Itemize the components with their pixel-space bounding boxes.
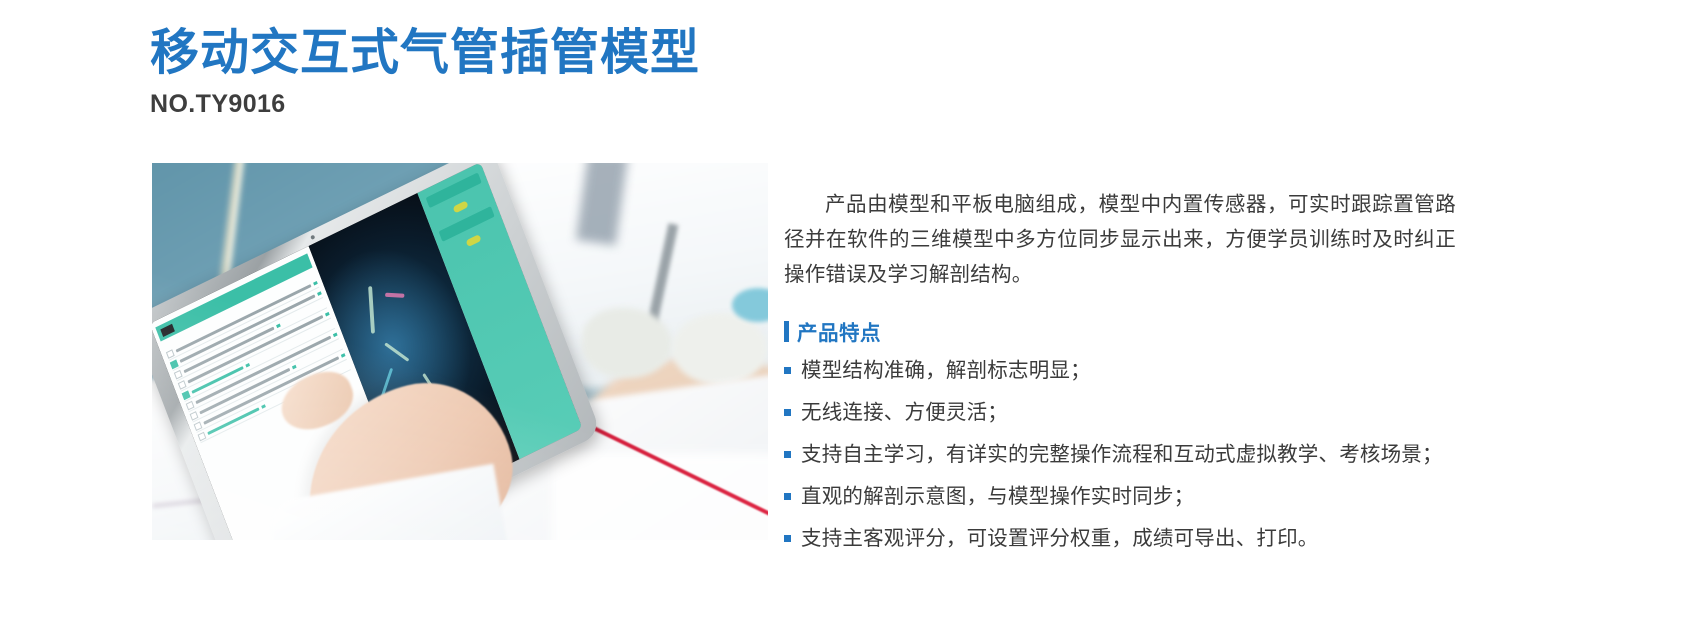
- content-column: 产品由模型和平板电脑组成，模型中内置传感器，可实时跟踪置管路径并在软件的三维模型…: [784, 166, 1456, 555]
- feature-label: 支持主客观评分，可设置评分权重，成绩可导出、打印。: [801, 522, 1319, 556]
- product-description: 产品由模型和平板电脑组成，模型中内置传感器，可实时跟踪置管路径并在软件的三维模型…: [784, 187, 1456, 293]
- feature-label: 支持自主学习，有详实的完整操作流程和互动式虚拟教学、考核场景；: [801, 438, 1443, 472]
- feature-label: 模型结构准确，解剖标志明显；: [801, 354, 1091, 388]
- bullet-square-icon: [784, 409, 791, 416]
- heading-accent-bar: [784, 321, 789, 342]
- features-heading: 产品特点: [784, 316, 1456, 346]
- list-item: 无线连接、方便灵活；: [784, 396, 1456, 430]
- list-item: 支持主客观评分，可设置评分权重，成绩可导出、打印。: [784, 522, 1456, 556]
- bullet-square-icon: [784, 367, 791, 374]
- bullet-square-icon: [784, 451, 791, 458]
- page-title: 移动交互式气管插管模型: [150, 26, 700, 81]
- bullet-square-icon: [784, 493, 791, 500]
- product-photo: [152, 163, 768, 540]
- list-item: 支持自主学习，有详实的完整操作流程和互动式虚拟教学、考核场景；: [784, 438, 1456, 472]
- feature-label: 直观的解剖示意图，与模型操作实时同步；: [801, 480, 1194, 514]
- list-item: 模型结构准确，解剖标志明显；: [784, 354, 1456, 388]
- list-item: 直观的解剖示意图，与模型操作实时同步；: [784, 480, 1456, 514]
- photo-highlight: [152, 163, 768, 540]
- page-header: 移动交互式气管插管模型 NO.TY9016: [150, 26, 700, 119]
- product-code: NO.TY9016: [150, 90, 700, 119]
- features-heading-label: 产品特点: [797, 316, 881, 346]
- feature-label: 无线连接、方便灵活；: [801, 396, 1008, 430]
- bullet-square-icon: [784, 535, 791, 542]
- features-list: 模型结构准确，解剖标志明显； 无线连接、方便灵活； 支持自主学习，有详实的完整操…: [784, 354, 1456, 555]
